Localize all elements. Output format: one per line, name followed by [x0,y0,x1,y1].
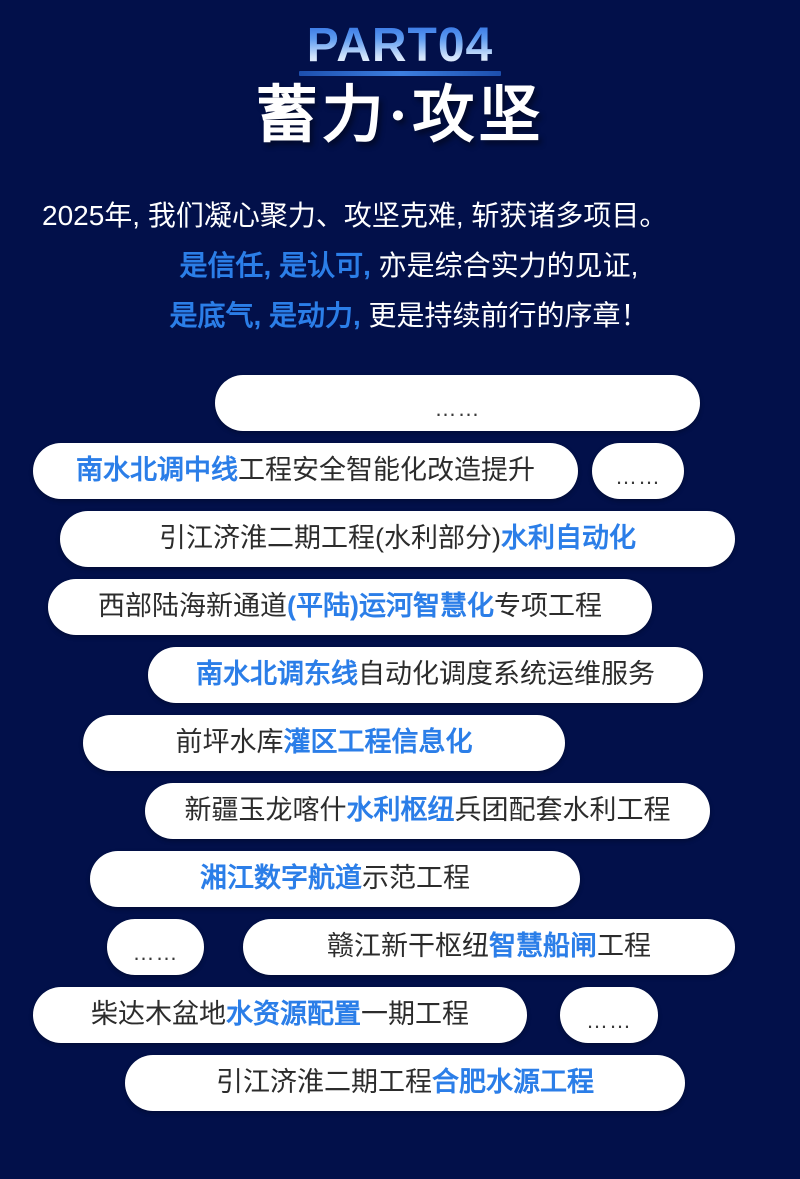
pill-label: 柴达木盆地水资源配置一期工程 [91,1001,469,1028]
pill-label: …… [615,466,661,488]
pill-plain-text: 工程安全智能化改造提升 [238,455,535,485]
pill-ellipsis-row10[interactable]: …… [560,987,658,1043]
pill-label: …… [133,942,179,964]
pill-plain-text: 示范工程 [362,863,470,893]
lead-line-1: 2025年, 我们凝心聚力、攻坚克难, 斩获诸多项目。 [42,191,758,241]
header-section: PART04 蓄力·攻坚 [0,0,800,153]
pill-plain-text: 新疆玉龙喀什 [185,795,347,825]
plain-text: 更是持续前行的序章！ [361,300,649,331]
pill-highlight-text: 智慧船闸 [489,931,597,961]
row-2: 南水北调中线工程安全智能化改造提升…… [0,443,800,499]
pill-highlight-text: 湘江数字航道 [200,863,362,893]
pill-plain-text: 一期工程 [361,999,469,1029]
pill-plain-text: …… [435,396,481,421]
pill-label: 引江济淮二期工程(水利部分)水利自动化 [159,525,636,552]
pill-western-land-sea-canal[interactable]: 西部陆海新通道(平陆)运河智慧化专项工程 [48,579,652,635]
project-pill-list: ……南水北调中线工程安全智能化改造提升……引江济淮二期工程(水利部分)水利自动化… [0,375,800,1115]
row-5: 南水北调东线自动化调度系统运维服务 [0,647,800,703]
pill-plain-text: 工程 [597,931,651,961]
plain-text: 2025年, 我们凝心聚力、攻坚克难, 斩获诸多项目。 [42,200,667,231]
pill-ellipsis-row2[interactable]: …… [592,443,684,499]
row-10: 柴达木盆地水资源配置一期工程…… [0,987,800,1043]
pill-highlight-text: (平陆)运河智慧化 [287,591,494,621]
pill-label: 新疆玉龙喀什水利枢纽兵团配套水利工程 [185,797,671,824]
pill-plain-text: 专项工程 [494,591,602,621]
pill-plain-text: …… [615,464,661,489]
pill-label: 引江济淮二期工程合肥水源工程 [216,1069,594,1096]
lead-paragraph: 2025年, 我们凝心聚力、攻坚克难, 斩获诸多项目。 是信任, 是认可, 亦是… [0,191,800,340]
part-label-underline [299,71,502,76]
row-6: 前坪水库灌区工程信息化 [0,715,800,771]
row-1: …… [0,375,800,431]
pill-label: 南水北调中线工程安全智能化改造提升 [76,457,535,484]
row-11: 引江济淮二期工程合肥水源工程 [0,1055,800,1111]
pill-ellipsis-row9[interactable]: …… [107,919,204,975]
pill-highlight-text: 水利枢纽 [347,795,455,825]
row-8: 湘江数字航道示范工程 [0,851,800,907]
pill-ellipsis-top[interactable]: …… [215,375,700,431]
pill-label: 西部陆海新通道(平陆)运河智慧化专项工程 [98,593,602,620]
row-3: 引江济淮二期工程(水利部分)水利自动化 [0,511,800,567]
pill-plain-text: …… [586,1008,632,1033]
lead-line-3: 是底气, 是动力, 更是持续前行的序章！ [42,291,758,341]
row-7: 新疆玉龙喀什水利枢纽兵团配套水利工程 [0,783,800,839]
part-label-wrapper: PART04 [299,22,502,78]
part-label: PART04 [307,22,494,70]
pill-ganjiang-xin-gan-hub[interactable]: 赣江新干枢纽智慧船闸工程 [243,919,735,975]
highlight-text: 是信任, 是认可, [180,250,371,281]
pill-qianping-reservoir[interactable]: 前坪水库灌区工程信息化 [83,715,565,771]
pill-yinjiang-jihuai-phase2[interactable]: 引江济淮二期工程(水利部分)水利自动化 [60,511,735,567]
pill-highlight-text: 合肥水源工程 [432,1067,594,1097]
pill-plain-text: 兵团配套水利工程 [455,795,671,825]
pill-highlight-text: 灌区工程信息化 [284,727,473,757]
page-title: 蓄力·攻坚 [0,80,800,153]
pill-south-north-middle-route[interactable]: 南水北调中线工程安全智能化改造提升 [33,443,578,499]
pill-label: 前坪水库灌区工程信息化 [176,729,473,756]
pill-highlight-text: 南水北调中线 [76,455,238,485]
pill-label: 赣江新干枢纽智慧船闸工程 [327,933,651,960]
pill-label: …… [586,1010,632,1032]
pill-plain-text: 引江济淮二期工程 [216,1067,432,1097]
pill-qaidam-basin-water-allocation[interactable]: 柴达木盆地水资源配置一期工程 [33,987,527,1043]
pill-xinjiang-yulong-kashi[interactable]: 新疆玉龙喀什水利枢纽兵团配套水利工程 [145,783,710,839]
highlight-text: 是底气, 是动力, [169,300,360,331]
pill-plain-text: 前坪水库 [176,727,284,757]
pill-highlight-text: 水利自动化 [501,523,636,553]
pill-xiangjiang-digital-waterway[interactable]: 湘江数字航道示范工程 [90,851,580,907]
pill-south-north-east-route[interactable]: 南水北调东线自动化调度系统运维服务 [148,647,703,703]
pill-plain-text: 赣江新干枢纽 [327,931,489,961]
lead-line-2: 是信任, 是认可, 亦是综合实力的见证, [42,241,758,291]
pill-label: 湘江数字航道示范工程 [200,865,470,892]
pill-plain-text: 柴达木盆地 [91,999,226,1029]
pill-label: 南水北调东线自动化调度系统运维服务 [196,661,655,688]
pill-plain-text: …… [133,940,179,965]
pill-yinjiang-jihuai-hefei-source[interactable]: 引江济淮二期工程合肥水源工程 [125,1055,685,1111]
row-9: ……赣江新干枢纽智慧船闸工程 [0,919,800,975]
pill-highlight-text: 水资源配置 [226,999,361,1029]
pill-plain-text: 自动化调度系统运维服务 [358,659,655,689]
pill-plain-text: 西部陆海新通道 [98,591,287,621]
plain-text: 亦是综合实力的见证, [371,250,639,281]
pill-plain-text: 引江济淮二期工程(水利部分) [159,523,501,553]
pill-highlight-text: 南水北调东线 [196,659,358,689]
row-4: 西部陆海新通道(平陆)运河智慧化专项工程 [0,579,800,635]
pill-label: …… [435,398,481,420]
